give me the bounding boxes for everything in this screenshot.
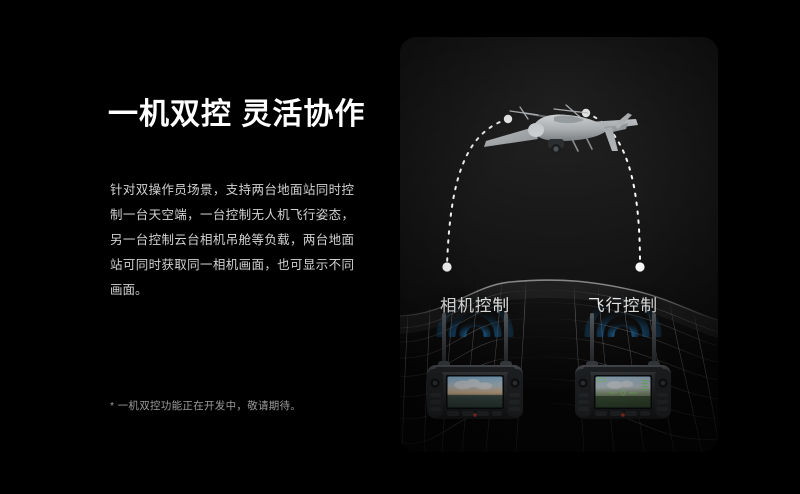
- drone-aircraft-icon: [476, 95, 646, 167]
- illustration-panel: 相机控制 飞行控制: [400, 37, 718, 452]
- ground-station-camera-control: [421, 307, 529, 425]
- page-title: 一机双控 灵活协作: [108, 96, 358, 134]
- description-paragraph: 针对双操作员场景，支持两台地面站同时控制一台天空端，一台控制无人机飞行姿态，另一…: [110, 178, 354, 303]
- marketing-text-column: 一机双控 灵活协作 针对双操作员场景，支持两台地面站同时控制一台天空端，一台控制…: [108, 96, 358, 134]
- ground-station-flight-control: [569, 307, 677, 425]
- footnote-disclaimer: * 一机双控功能正在开发中，敬请期待。: [110, 398, 301, 413]
- page-root: 一机双控 灵活协作 针对双操作员场景，支持两台地面站同时控制一台天空端，一台控制…: [0, 0, 800, 494]
